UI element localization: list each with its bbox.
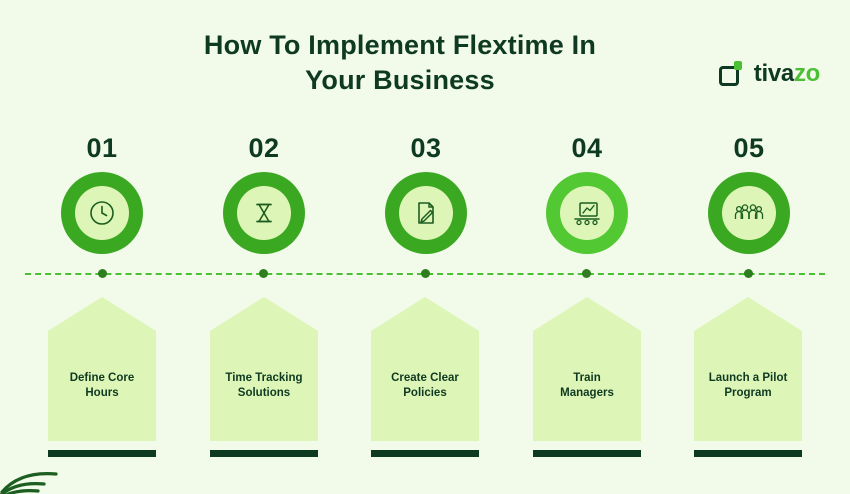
- group-people-icon: [722, 186, 776, 240]
- step-icon-circle-2: [223, 172, 305, 254]
- page-title: How To Implement Flextime In Your Busine…: [120, 28, 680, 97]
- card-roof-2: [210, 297, 318, 331]
- step-icon-circle-1: [61, 172, 143, 254]
- page-title-line-2: Your Business: [120, 63, 680, 98]
- card-roof-3: [371, 297, 479, 331]
- card-body-1: Define Core Hours: [48, 331, 156, 441]
- step-card-4: Train Managers: [533, 297, 641, 457]
- presentation-board-icon: [560, 186, 614, 240]
- logo-mark-icon: [719, 61, 745, 87]
- card-body-3: Create Clear Policies: [371, 331, 479, 441]
- document-pen-icon: [399, 186, 453, 240]
- step-column-2: 02: [194, 132, 334, 254]
- logo-wordmark: tivazo: [754, 60, 820, 88]
- step-icon-circle-4: [546, 172, 628, 254]
- step-number-3: 03: [356, 132, 496, 164]
- step-number-2: 02: [194, 132, 334, 164]
- step-label-3: Create Clear Policies: [391, 371, 459, 400]
- card-roof-4: [533, 297, 641, 331]
- brand-logo: tivazo: [719, 60, 820, 88]
- step-label-5: Launch a Pilot Program: [709, 371, 788, 400]
- step-icon-circle-3: [385, 172, 467, 254]
- timeline-dot-4: [582, 269, 591, 278]
- step-number-1: 01: [32, 132, 172, 164]
- step-card-2: Time Tracking Solutions: [210, 297, 318, 457]
- timeline-dot-2: [259, 269, 268, 278]
- infographic-canvas: How To Implement Flextime In Your Busine…: [0, 0, 850, 494]
- card-roof-1: [48, 297, 156, 331]
- decorative-swoosh: [0, 434, 90, 494]
- step-card-1: Define Core Hours: [48, 297, 156, 457]
- step-number-5: 05: [679, 132, 819, 164]
- step-label-4-line-2: Managers: [560, 386, 614, 401]
- card-base-4: [533, 450, 641, 457]
- card-body-2: Time Tracking Solutions: [210, 331, 318, 441]
- timeline-dot-5: [744, 269, 753, 278]
- step-label-1: Define Core Hours: [70, 371, 135, 400]
- step-column-3: 03: [356, 132, 496, 254]
- hourglass-icon: [237, 186, 291, 240]
- step-card-3: Create Clear Policies: [371, 297, 479, 457]
- step-label-5-line-1: Launch a Pilot: [709, 371, 788, 386]
- step-label-4-line-1: Train: [560, 371, 614, 386]
- card-base-5: [694, 450, 802, 457]
- step-column-1: 01: [32, 132, 172, 254]
- step-label-3-line-1: Create Clear: [391, 371, 459, 386]
- card-body-5: Launch a Pilot Program: [694, 331, 802, 441]
- step-number-4: 04: [517, 132, 657, 164]
- card-roof-5: [694, 297, 802, 331]
- logo-text-dark: tiva: [754, 60, 794, 87]
- card-body-4: Train Managers: [533, 331, 641, 441]
- step-label-4: Train Managers: [560, 371, 614, 400]
- step-label-5-line-2: Program: [709, 386, 788, 401]
- step-label-3-line-2: Policies: [391, 386, 459, 401]
- card-base-3: [371, 450, 479, 457]
- step-label-2-line-1: Time Tracking: [225, 371, 302, 386]
- step-column-4: 04: [517, 132, 657, 254]
- step-icon-circle-5: [708, 172, 790, 254]
- step-label-1-line-2: Hours: [70, 386, 135, 401]
- step-card-5: Launch a Pilot Program: [694, 297, 802, 457]
- step-label-1-line-1: Define Core: [70, 371, 135, 386]
- step-column-5: 05: [679, 132, 819, 254]
- step-label-2: Time Tracking Solutions: [225, 371, 302, 400]
- timeline-dot-3: [421, 269, 430, 278]
- logo-text-accent: zo: [794, 60, 820, 87]
- page-title-line-1: How To Implement Flextime In: [120, 28, 680, 63]
- card-base-2: [210, 450, 318, 457]
- step-label-2-line-2: Solutions: [225, 386, 302, 401]
- timeline-dot-1: [98, 269, 107, 278]
- clock-icon: [75, 186, 129, 240]
